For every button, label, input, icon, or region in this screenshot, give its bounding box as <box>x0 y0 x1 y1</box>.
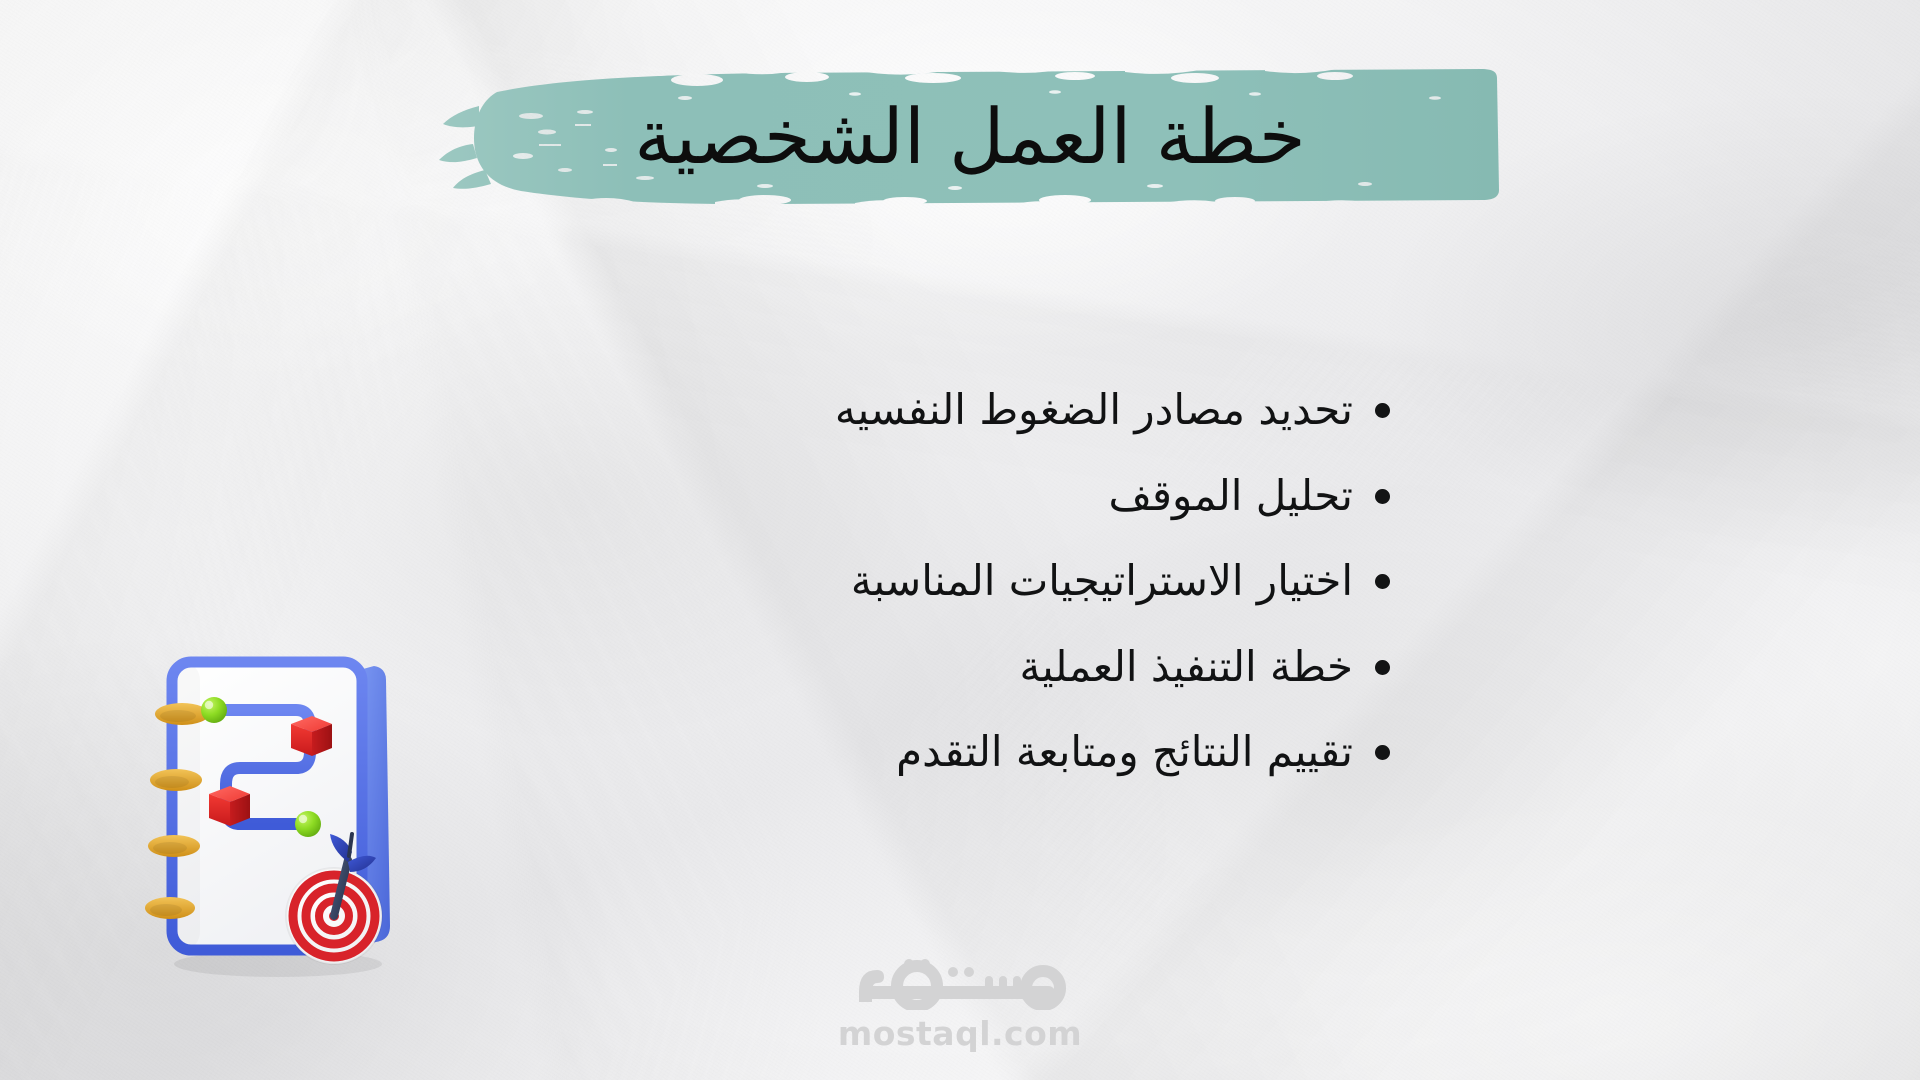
red-cube-milestone <box>209 786 250 826</box>
list-item: تقييم النتائج ومتابعة التقدم <box>520 727 1390 777</box>
bullet-dot-icon <box>1375 574 1390 589</box>
list-item-label: تقييم النتائج ومتابعة التقدم <box>896 727 1353 777</box>
mostaql-logo-icon <box>845 958 1075 1010</box>
list-item-label: خطة التنفيذ العملية <box>1019 642 1353 692</box>
list-item: تحديد مصادر الضغوط النفسيه <box>520 385 1390 435</box>
notebook-plan-illustration <box>138 648 408 978</box>
list-item: تحليل الموقف <box>520 471 1390 521</box>
slide-root: خطة العمل الشخصية تحديد مصادر الضغوط الن… <box>0 0 1920 1080</box>
bullet-dot-icon <box>1375 660 1390 675</box>
red-cube-milestone <box>291 716 332 756</box>
bullet-dot-icon <box>1375 403 1390 418</box>
bullet-dot-icon <box>1375 745 1390 760</box>
page-title: خطة العمل الشخصية <box>435 72 1505 200</box>
watermark: mostaql.com <box>810 958 1110 1053</box>
list-item-label: اختيار الاستراتيجيات المناسبة <box>851 556 1353 606</box>
list-item-label: تحليل الموقف <box>1108 471 1353 521</box>
bullet-dot-icon <box>1375 489 1390 504</box>
watermark-domain: mostaql.com <box>838 1014 1082 1053</box>
list-item: خطة التنفيذ العملية <box>520 642 1390 692</box>
action-plan-bullet-list: تحديد مصادر الضغوط النفسيه تحليل الموقف … <box>520 385 1390 777</box>
list-item-label: تحديد مصادر الضغوط النفسيه <box>835 385 1353 435</box>
green-end-node <box>295 811 321 837</box>
green-start-node <box>201 697 227 723</box>
list-item: اختيار الاستراتيجيات المناسبة <box>520 556 1390 606</box>
